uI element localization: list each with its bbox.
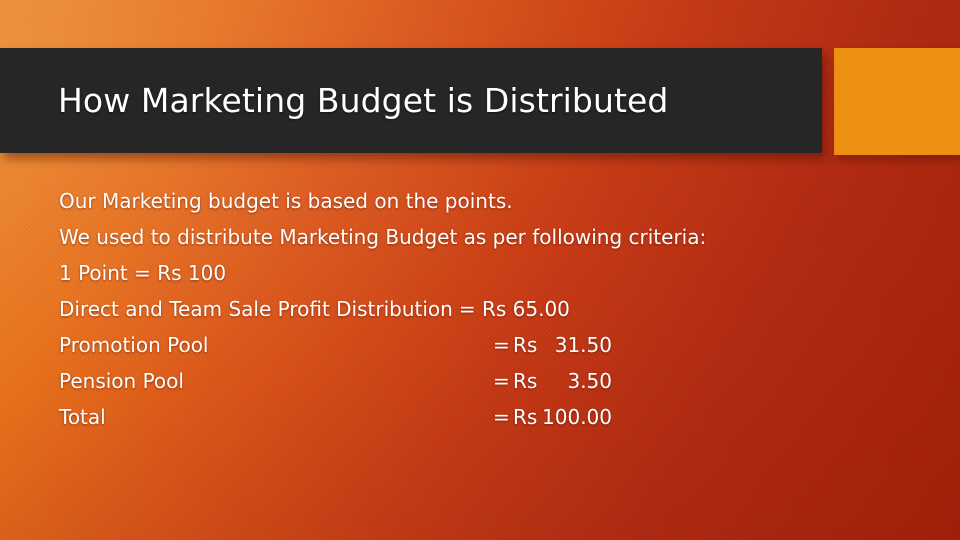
- amount-equals: =: [493, 327, 510, 363]
- amount-row-pension-pool: Pension Pool = Rs 3.50: [59, 363, 919, 399]
- accent-block: [834, 48, 960, 155]
- amount-label: Total: [59, 399, 106, 435]
- amount-value: 31.50: [533, 327, 612, 363]
- amount-row-direct-team-sale: Direct and Team Sale Profit Distribution…: [59, 291, 919, 327]
- amount-currency: Rs: [482, 297, 506, 321]
- amount-label: Pension Pool: [59, 363, 184, 399]
- amount-equals: =: [493, 363, 510, 399]
- title-banner: How Marketing Budget is Distributed: [0, 48, 822, 153]
- amount-value: 3.50: [533, 363, 612, 399]
- slide-body: Our Marketing budget is based on the poi…: [59, 183, 919, 435]
- amount-value: 65.00: [513, 297, 570, 321]
- body-line-intro-2: We used to distribute Marketing Budget a…: [59, 219, 919, 255]
- slide-title: How Marketing Budget is Distributed: [0, 81, 668, 120]
- amount-row-total: Total = Rs 100.00: [59, 399, 919, 435]
- body-line-intro-1: Our Marketing budget is based on the poi…: [59, 183, 919, 219]
- amount-equals: =: [493, 399, 510, 435]
- amount-label: Direct and Team Sale Profit Distribution: [59, 297, 453, 321]
- presentation-slide: How Marketing Budget is Distributed Our …: [0, 0, 960, 540]
- amount-value: 100.00: [533, 399, 612, 435]
- amount-label: Promotion Pool: [59, 327, 209, 363]
- body-line-intro-3: 1 Point = Rs 100: [59, 255, 919, 291]
- amount-row-promotion-pool: Promotion Pool = Rs 31.50: [59, 327, 919, 363]
- amount-equals: =: [459, 297, 476, 321]
